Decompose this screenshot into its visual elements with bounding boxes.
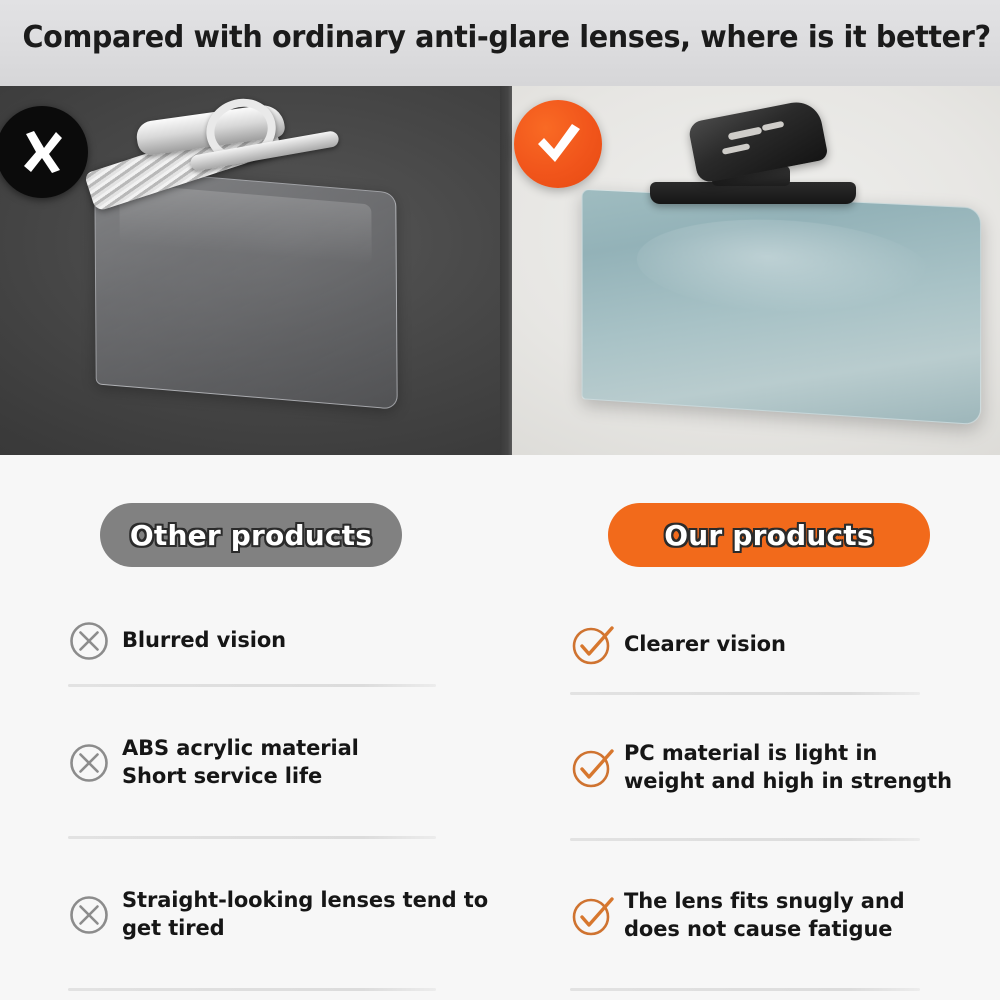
x-badge-icon <box>0 106 88 198</box>
photo-other-product <box>0 86 500 455</box>
product-comparison-page: Compared with ordinary anti-glare lenses… <box>0 0 1000 1000</box>
list-item: The lens fits snugly and does not cause … <box>500 841 1000 991</box>
circle-x-icon <box>68 894 110 936</box>
our-products-feature-list: Clearer vision PC material is light in w… <box>500 595 1000 991</box>
clip-arm <box>687 98 828 184</box>
list-item: PC material is light in weight and high … <box>500 695 1000 841</box>
circle-check-icon <box>570 622 616 668</box>
our-products-label: Our products <box>608 503 930 567</box>
photo-our-product <box>500 86 1000 455</box>
list-item: ABS acrylic material Short service life <box>0 687 500 839</box>
tinted-pc-visor-image <box>582 189 982 425</box>
list-item-label: Blurred vision <box>122 627 286 655</box>
divider <box>68 988 436 991</box>
circle-check-icon <box>570 745 616 791</box>
black-clip-image <box>650 104 860 210</box>
divider <box>570 988 920 991</box>
list-item-label: Clearer vision <box>624 631 786 659</box>
list-item-label: The lens fits snugly and does not cause … <box>624 888 905 944</box>
list-item: Clearer vision <box>500 595 1000 695</box>
list-item-label: Straight-looking lenses tend to get tire… <box>122 887 488 943</box>
circle-x-icon <box>68 742 110 784</box>
circle-x-icon <box>68 620 110 662</box>
feature-comparison-section: Other products Blurred vision <box>0 455 1000 1000</box>
our-products-column: Our products Clearer vision <box>500 455 1000 1000</box>
photo-comparison-band <box>0 86 1000 455</box>
other-products-label: Other products <box>100 503 402 567</box>
list-item-label: ABS acrylic material Short service life <box>122 735 359 791</box>
check-badge-icon <box>514 100 602 188</box>
circle-check-icon <box>570 893 616 939</box>
other-products-feature-list: Blurred vision ABS acrylic material Shor… <box>0 595 500 991</box>
page-title: Compared with ordinary anti-glare lenses… <box>23 20 978 55</box>
header-band: Compared with ordinary anti-glare lenses… <box>0 0 1000 86</box>
list-item: Blurred vision <box>0 595 500 687</box>
list-item: Straight-looking lenses tend to get tire… <box>0 839 500 991</box>
other-products-column: Other products Blurred vision <box>0 455 500 1000</box>
list-item-label: PC material is light in weight and high … <box>624 740 952 796</box>
